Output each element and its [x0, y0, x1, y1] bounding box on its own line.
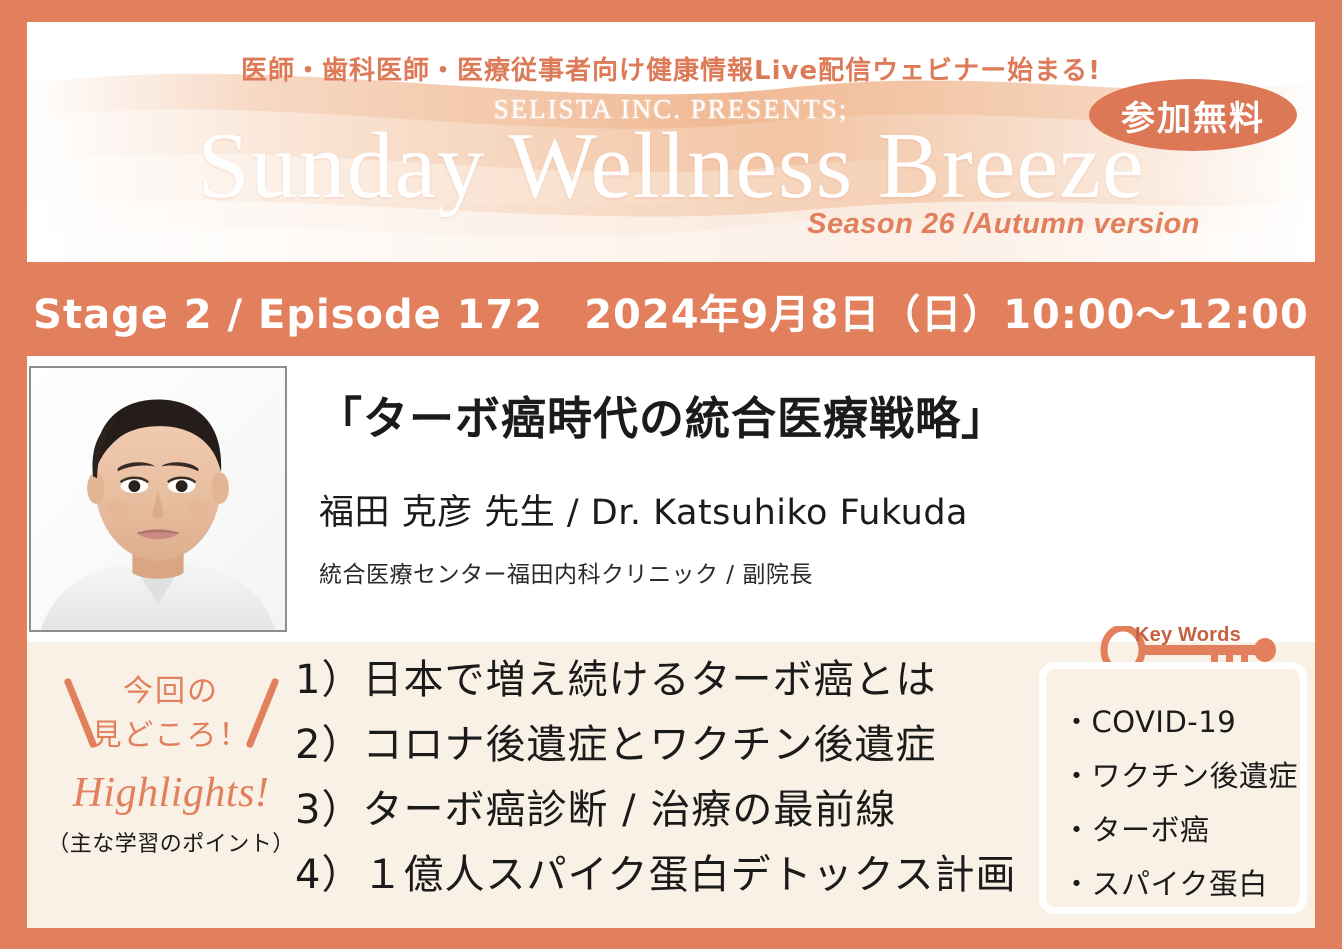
keywords-label: Key Words — [1135, 624, 1241, 647]
list-item: ・COVID-19 — [1062, 695, 1300, 749]
highlights-jp-line1: 今回の — [45, 670, 297, 714]
list-item: 2）コロナ後遺症とワクチン後遺症 — [295, 713, 995, 778]
talk-title: 「ターボ癌時代の統合医療戦略」 — [317, 382, 1007, 447]
list-item: 1）日本で増え続けるターボ癌とは — [295, 648, 995, 713]
talk-info-panel: 「ターボ癌時代の統合医療戦略」 福田 克彦 先生 / Dr. Katsuhiko… — [27, 356, 1315, 642]
keywords-box: ・COVID-19 ・ワクチン後遺症 ・ターボ癌 ・スパイク蛋白 — [1039, 662, 1307, 914]
avatar — [29, 366, 287, 632]
highlights-sub-label: （主な学習のポイント） — [45, 826, 297, 858]
header-banner: 医師・歯科医師・医療従事者向け健康情報Live配信ウェビナー始まる! SELIS… — [27, 22, 1315, 262]
free-participation-badge: 参加無料 — [1089, 79, 1297, 151]
highlights-en-label: Highlights! — [45, 769, 297, 817]
highlights-jp-label: 今回の 見どころ！ — [45, 670, 297, 757]
list-item: ・ターボ癌 — [1062, 803, 1300, 857]
speaker-name: 福田 克彦 先生 / Dr. Katsuhiko Fukuda — [319, 484, 968, 535]
flyer-root: 医師・歯科医師・医療従事者向け健康情報Live配信ウェビナー始まる! SELIS… — [0, 0, 1342, 949]
keywords-block: Key Words ・COVID-19 ・ワクチン後遺症 ・ターボ癌 ・スパイク… — [1027, 626, 1317, 926]
list-item: 4）１億人スパイク蛋白デトックス計画 — [295, 843, 995, 908]
highlights-block: 今回の 見どころ！ Highlights! （主な学習のポイント） — [45, 654, 297, 904]
list-item: ・スパイク蛋白 — [1062, 857, 1300, 911]
highlights-panel: 今回の 見どころ！ Highlights! （主な学習のポイント） 1）日本で増… — [27, 642, 1315, 928]
episode-datetime: Stage 2 / Episode 172 2024年9月8日（日）10:00〜… — [33, 282, 1309, 340]
season-label: Season 26 /Autumn version — [807, 208, 1200, 241]
list-item: 3）ターボ癌診断 / 治療の最前線 — [295, 778, 995, 843]
episode-bar: Stage 2 / Episode 172 2024年9月8日（日）10:00〜… — [27, 268, 1315, 354]
header-tagline: 医師・歯科医師・医療従事者向け健康情報Live配信ウェビナー始まる! — [27, 50, 1315, 87]
speaker-portrait-image — [31, 368, 285, 630]
list-item: ・ワクチン後遺症 — [1062, 749, 1300, 803]
highlight-points-list: 1）日本で増え続けるターボ癌とは 2）コロナ後遺症とワクチン後遺症 3）ターボ癌… — [295, 648, 995, 908]
free-badge-label: 参加無料 — [1121, 91, 1265, 140]
highlights-jp-line2: 見どころ！ — [45, 714, 297, 758]
speaker-affiliation: 統合医療センター福田内科クリニック / 副院長 — [319, 555, 813, 589]
